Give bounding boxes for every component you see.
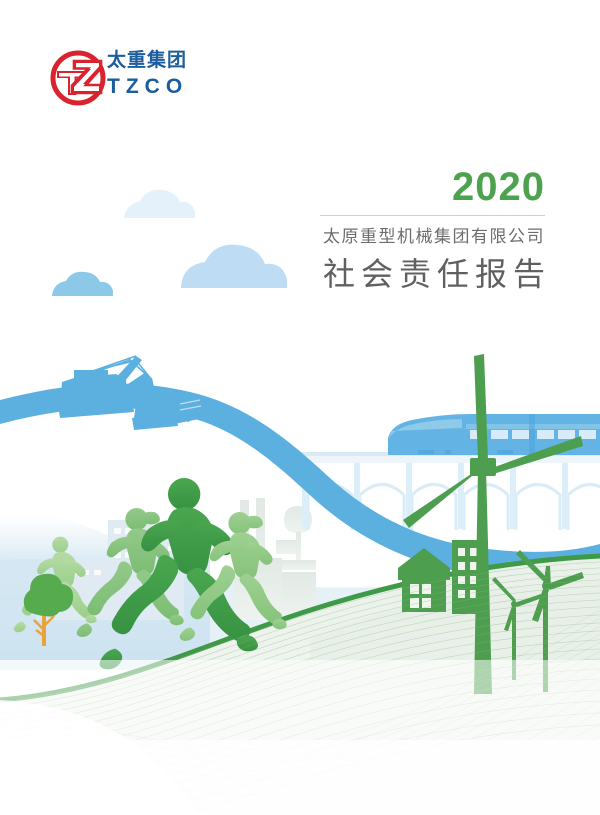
logo-wordmark: 太重集团 TZCO bbox=[107, 49, 247, 105]
title-divider bbox=[320, 215, 545, 216]
page-title: 社会责任报告 bbox=[245, 253, 551, 295]
report-cover-page: 太重集团 TZCO 2020 太原重型机械集团有限公司 社会责任报告 bbox=[0, 0, 600, 815]
cover-title-block: 2020 太原重型机械集团有限公司 社会责任报告 bbox=[245, 165, 545, 295]
tz-monogram-icon bbox=[47, 47, 109, 109]
cloud-small-top bbox=[124, 190, 195, 218]
company-logo[interactable]: 太重集团 TZCO bbox=[47, 45, 247, 111]
cloud-medium-left bbox=[52, 272, 113, 296]
company-full-name: 太原重型机械集团有限公司 bbox=[245, 225, 545, 249]
logo-name-cn: 太重集团 bbox=[107, 49, 187, 73]
logo-name-en: TZCO bbox=[107, 74, 188, 100]
cover-illustration bbox=[0, 0, 600, 815]
report-year: 2020 bbox=[245, 165, 545, 209]
